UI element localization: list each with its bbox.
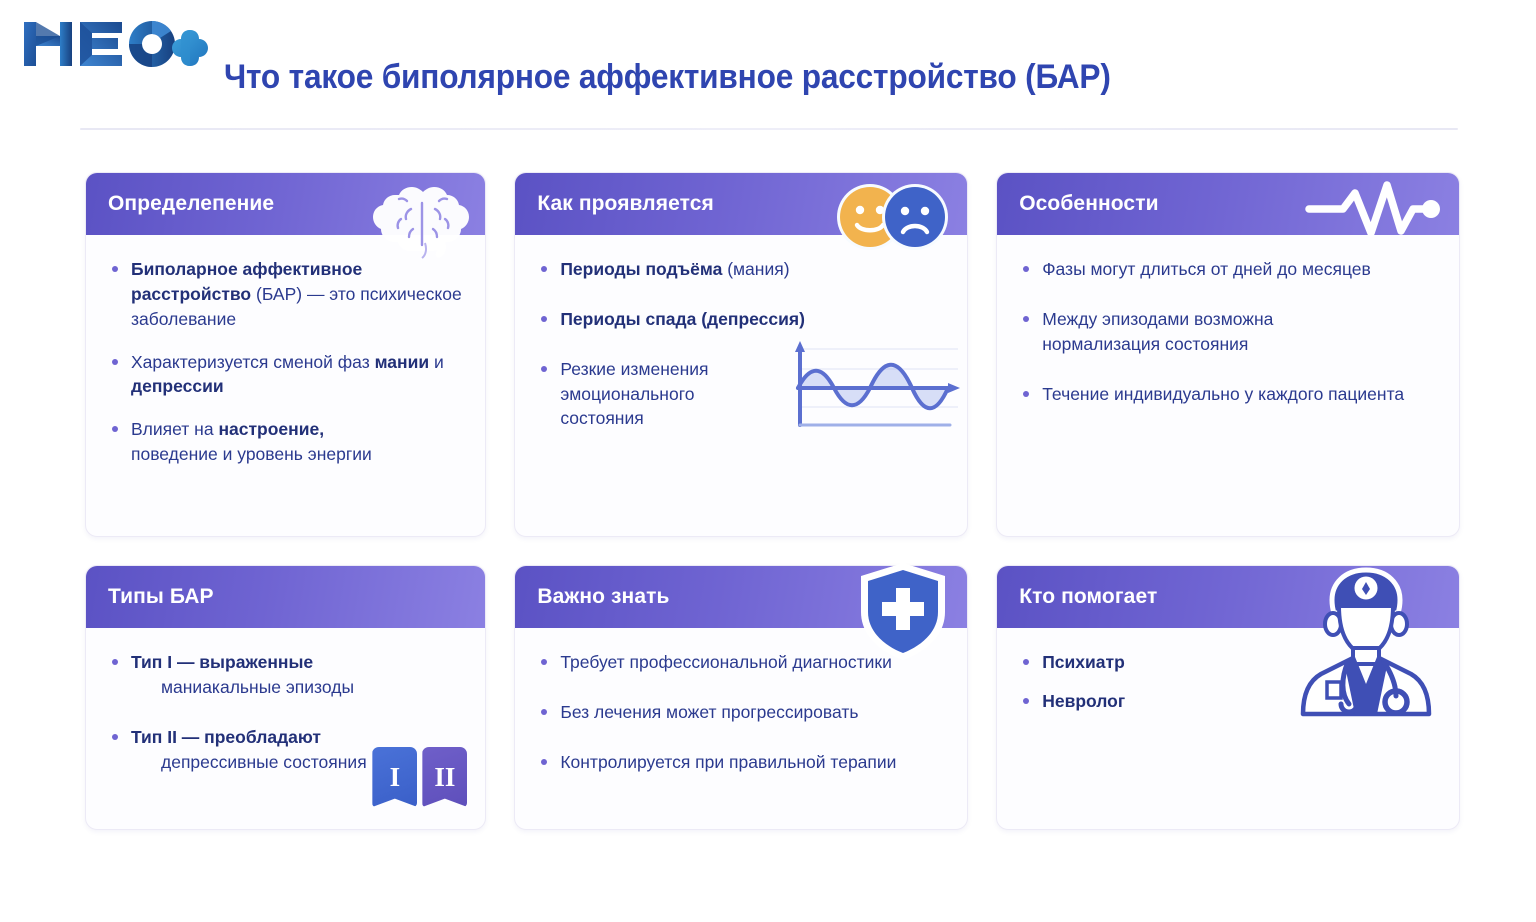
card-important: Важно знать Требует профессиональной диа…	[514, 565, 968, 830]
list-item: Без лечения может прогрессировать	[537, 700, 947, 725]
card-body-types: Тип I — выраженныеманиакальные эпизоды Т…	[86, 628, 485, 829]
type-one-badge: I	[372, 747, 417, 807]
bullet-text: Фазы могут длиться от дней до месяцев	[1042, 259, 1371, 279]
list-item: Между эпизодами возможна нормализация со…	[1019, 307, 1349, 357]
neo-plus-logo	[18, 16, 208, 72]
bullet-text: Течение индивидуально у каждого пациента	[1042, 384, 1404, 404]
list-item: Биполарное аффективное расстройство (БАР…	[108, 257, 465, 332]
bullet-text: Влияет на	[131, 419, 218, 439]
card-header-definition: Определепение	[86, 173, 485, 235]
bullet-bold-text: Периоды подъёма	[560, 259, 722, 279]
bullet-list-important: Требует профессиональной диагностики Без…	[537, 650, 947, 775]
bullet-subtext: поведение и уровень энергии	[131, 442, 465, 467]
card-types: Типы БАР Тип I — выраженныеманиакальные …	[85, 565, 486, 830]
list-item: Контролируется при правильной терапии	[537, 750, 947, 775]
card-body-features: Фазы могут длиться от дней до месяцев Ме…	[997, 235, 1459, 536]
bullet-text: Резкие изменения эмоционального состояни…	[560, 359, 708, 429]
list-item: Характеризуется сменой фаз мании и депре…	[108, 350, 465, 400]
list-item: Периоды спада (депрессия)	[537, 307, 947, 332]
bullet-bold-text: Невролог	[1042, 691, 1125, 711]
list-item: Резкие изменения эмоционального состояни…	[537, 357, 777, 432]
bullet-bold-text: депрессии	[131, 376, 224, 396]
type-badges-icon: I II	[372, 747, 467, 807]
infographic-page: Что такое биполярное аффективное расстро…	[0, 0, 1536, 922]
cards-grid: Определепение	[85, 172, 1460, 858]
cards-row-top: Определепение	[85, 172, 1460, 537]
mood-wave-chart	[778, 335, 963, 440]
list-item: Влияет на настроение,поведение и уровень…	[108, 417, 465, 467]
bullet-subtext: маниакальные эпизоды	[131, 675, 465, 700]
card-header-important: Важно знать	[515, 566, 967, 628]
card-title-who-helps: Кто помогает	[1019, 585, 1157, 609]
bullet-text: Между эпизодами возможна нормализация со…	[1042, 309, 1273, 354]
bullet-bold-text: Периоды спада (депрессия)	[560, 309, 805, 329]
bullet-text: и	[429, 352, 444, 372]
bullet-bold-text: мании	[375, 352, 430, 372]
bullet-bold-text: Психиатр	[1042, 652, 1125, 672]
card-body-who-helps: Психиатр Невролог	[997, 628, 1459, 829]
bullet-text: (мания)	[722, 259, 789, 279]
bullet-bold-text: настроение,	[218, 419, 324, 439]
card-title-features: Особенности	[1019, 192, 1158, 216]
list-item: Течение индивидуально у каждого пациента	[1019, 382, 1439, 407]
list-item: Требует профессиональной диагностики	[537, 650, 947, 675]
card-definition: Определепение	[85, 172, 486, 537]
card-who-helps: Кто помогает	[996, 565, 1460, 830]
card-manifestation: Как проявляется	[514, 172, 968, 537]
card-header-who-helps: Кто помогает	[997, 566, 1459, 628]
card-title-manifestation: Как проявляется	[537, 192, 713, 216]
card-features: Особенности Фазы могут длиться от дней д…	[996, 172, 1460, 537]
list-item: Невролог	[1019, 689, 1439, 714]
card-title-types: Типы БАР	[108, 585, 214, 609]
bullet-text: Контролируется при правильной терапии	[560, 752, 896, 772]
bullet-bold-text: Тип I — выраженные	[131, 652, 313, 672]
list-item: Фазы могут длиться от дней до месяцев	[1019, 257, 1439, 282]
bullet-text: Требует профессиональной диагностики	[560, 652, 892, 672]
bullet-text: Характеризуется сменой фаз	[131, 352, 375, 372]
bullet-list-features: Фазы могут длиться от дней до месяцев Ме…	[1019, 257, 1439, 406]
cards-row-bottom: Типы БАР Тип I — выраженныеманиакальные …	[85, 565, 1460, 830]
card-body-definition: Биполарное аффективное расстройство (БАР…	[86, 235, 485, 536]
type-two-badge: II	[422, 747, 467, 807]
bullet-list-definition: Биполарное аффективное расстройство (БАР…	[108, 257, 465, 467]
list-item: Тип I — выраженныеманиакальные эпизоды	[108, 650, 465, 700]
card-title-definition: Определепение	[108, 192, 274, 216]
list-item: Психиатр	[1019, 650, 1439, 675]
card-header-manifestation: Как проявляется	[515, 173, 967, 235]
bullet-bold-text: Тип II — преобладают	[131, 727, 321, 747]
card-header-types: Типы БАР	[86, 566, 485, 628]
page-header: Что такое биполярное аффективное расстро…	[0, 0, 1536, 130]
bullet-list-who-helps: Психиатр Невролог	[1019, 650, 1439, 714]
list-item: Периоды подъёма (мания)	[537, 257, 947, 282]
card-body-important: Требует профессиональной диагностики Без…	[515, 628, 967, 829]
bullet-text: Без лечения может прогрессировать	[560, 702, 858, 722]
page-title: Что такое биполярное аффективное расстро…	[224, 58, 1111, 97]
card-title-important: Важно знать	[537, 585, 669, 609]
card-header-features: Особенности	[997, 173, 1459, 235]
title-divider	[80, 128, 1458, 130]
card-body-manifestation: Периоды подъёма (мания) Периоды спада (д…	[515, 235, 967, 536]
